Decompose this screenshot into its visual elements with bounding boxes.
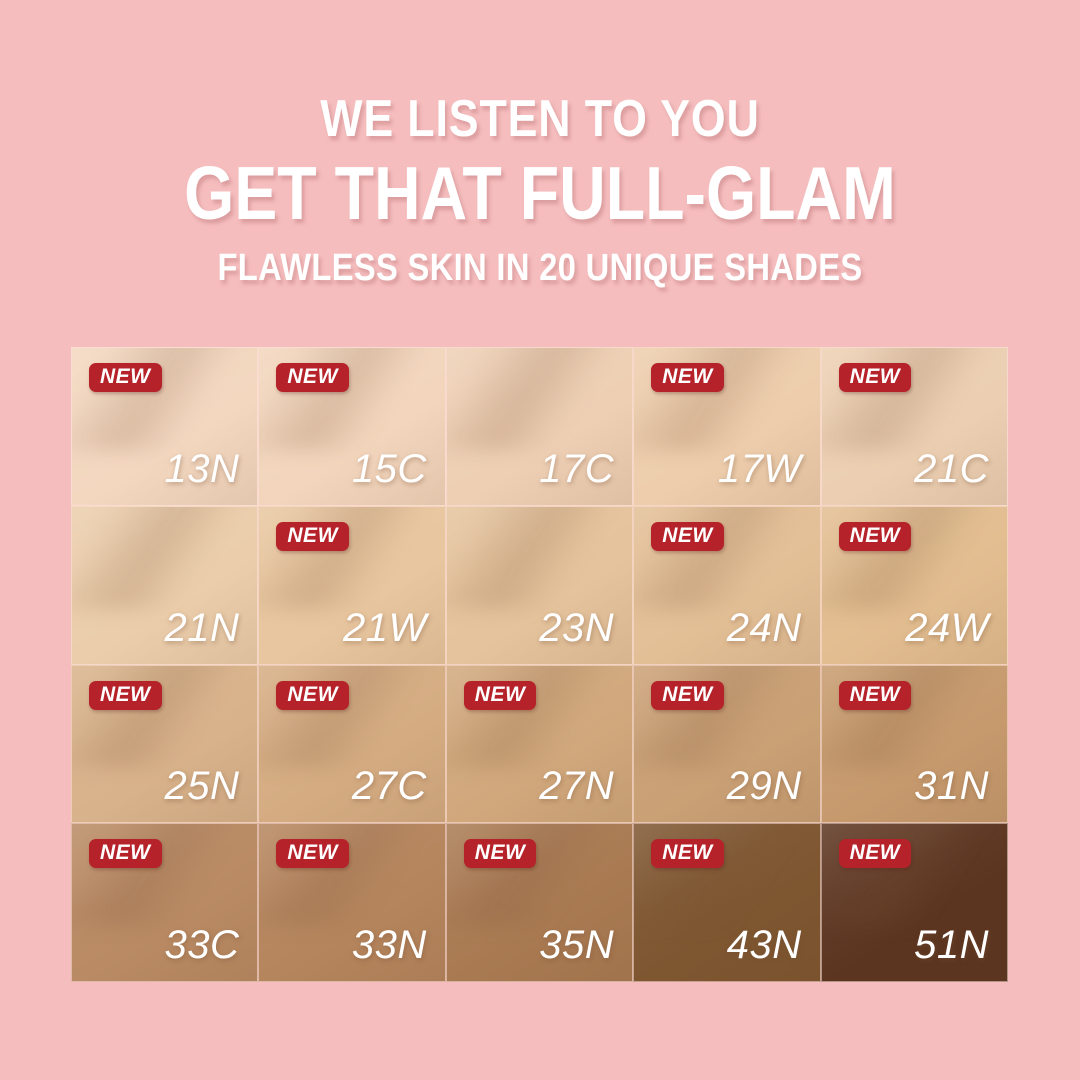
new-badge: NEW	[651, 681, 724, 710]
shade-swatch[interactable]: NEW23N	[446, 506, 633, 665]
shade-code-label: 35N	[539, 925, 614, 965]
shade-code-label: 24W	[905, 608, 989, 648]
new-badge: NEW	[276, 363, 349, 392]
new-badge: NEW	[276, 681, 349, 710]
shade-swatch[interactable]: NEW24W	[821, 506, 1008, 665]
shade-swatch[interactable]: NEW21N	[71, 506, 258, 665]
shade-swatch[interactable]: NEW33N	[258, 823, 445, 982]
shade-code-label: 27N	[539, 766, 614, 806]
new-badge: NEW	[839, 681, 912, 710]
shade-code-label: 33C	[165, 925, 240, 965]
shade-swatch[interactable]: NEW31N	[821, 665, 1008, 824]
shade-swatch[interactable]: NEW27N	[446, 665, 633, 824]
shade-swatch[interactable]: NEW24N	[633, 506, 820, 665]
shade-code-label: 15C	[352, 449, 427, 489]
shade-swatch[interactable]: NEW17C	[446, 347, 633, 506]
new-badge: NEW	[89, 681, 162, 710]
shade-code-label: 21W	[343, 608, 427, 648]
shade-grid: NEW13NNEW15CNEW17CNEW17WNEW21CNEW21NNEW2…	[71, 347, 1008, 982]
new-badge: NEW	[464, 839, 537, 868]
shade-code-label: 43N	[727, 925, 802, 965]
shade-swatch[interactable]: NEW33C	[71, 823, 258, 982]
shade-swatch[interactable]: NEW43N	[633, 823, 820, 982]
new-badge: NEW	[839, 839, 912, 868]
shade-code-label: 31N	[914, 766, 989, 806]
header-headline: GET THAT FULL-GLAM	[76, 156, 1005, 231]
shade-code-label: 17C	[539, 449, 614, 489]
shade-swatch[interactable]: NEW27C	[258, 665, 445, 824]
shade-swatch[interactable]: NEW21C	[821, 347, 1008, 506]
new-badge: NEW	[89, 839, 162, 868]
shade-code-label: 23N	[539, 608, 614, 648]
shade-swatch[interactable]: NEW29N	[633, 665, 820, 824]
shade-code-label: 29N	[727, 766, 802, 806]
new-badge: NEW	[89, 363, 162, 392]
new-badge: NEW	[651, 522, 724, 551]
shade-swatch[interactable]: NEW25N	[71, 665, 258, 824]
shade-swatch[interactable]: NEW13N	[71, 347, 258, 506]
shade-swatch[interactable]: NEW21W	[258, 506, 445, 665]
shade-code-label: 24N	[727, 608, 802, 648]
new-badge: NEW	[464, 681, 537, 710]
shade-code-label: 33N	[352, 925, 427, 965]
shade-code-label: 27C	[352, 766, 427, 806]
new-badge: NEW	[651, 363, 724, 392]
shade-code-label: 13N	[165, 449, 240, 489]
new-badge: NEW	[276, 522, 349, 551]
shade-code-label: 51N	[914, 925, 989, 965]
shade-swatch[interactable]: NEW35N	[446, 823, 633, 982]
new-badge: NEW	[839, 363, 912, 392]
new-badge: NEW	[839, 522, 912, 551]
header-subhead: FLAWLESS SKIN IN 20 UNIQUE SHADES	[76, 249, 1005, 287]
shade-code-label: 21N	[165, 608, 240, 648]
shade-code-label: 21C	[914, 449, 989, 489]
new-badge: NEW	[276, 839, 349, 868]
header-eyebrow: WE LISTEN TO YOU	[76, 93, 1005, 145]
shade-swatch[interactable]: NEW51N	[821, 823, 1008, 982]
shade-swatch[interactable]: NEW17W	[633, 347, 820, 506]
new-badge: NEW	[651, 839, 724, 868]
shade-code-label: 25N	[165, 766, 240, 806]
shade-swatch[interactable]: NEW15C	[258, 347, 445, 506]
shade-code-label: 17W	[718, 449, 802, 489]
